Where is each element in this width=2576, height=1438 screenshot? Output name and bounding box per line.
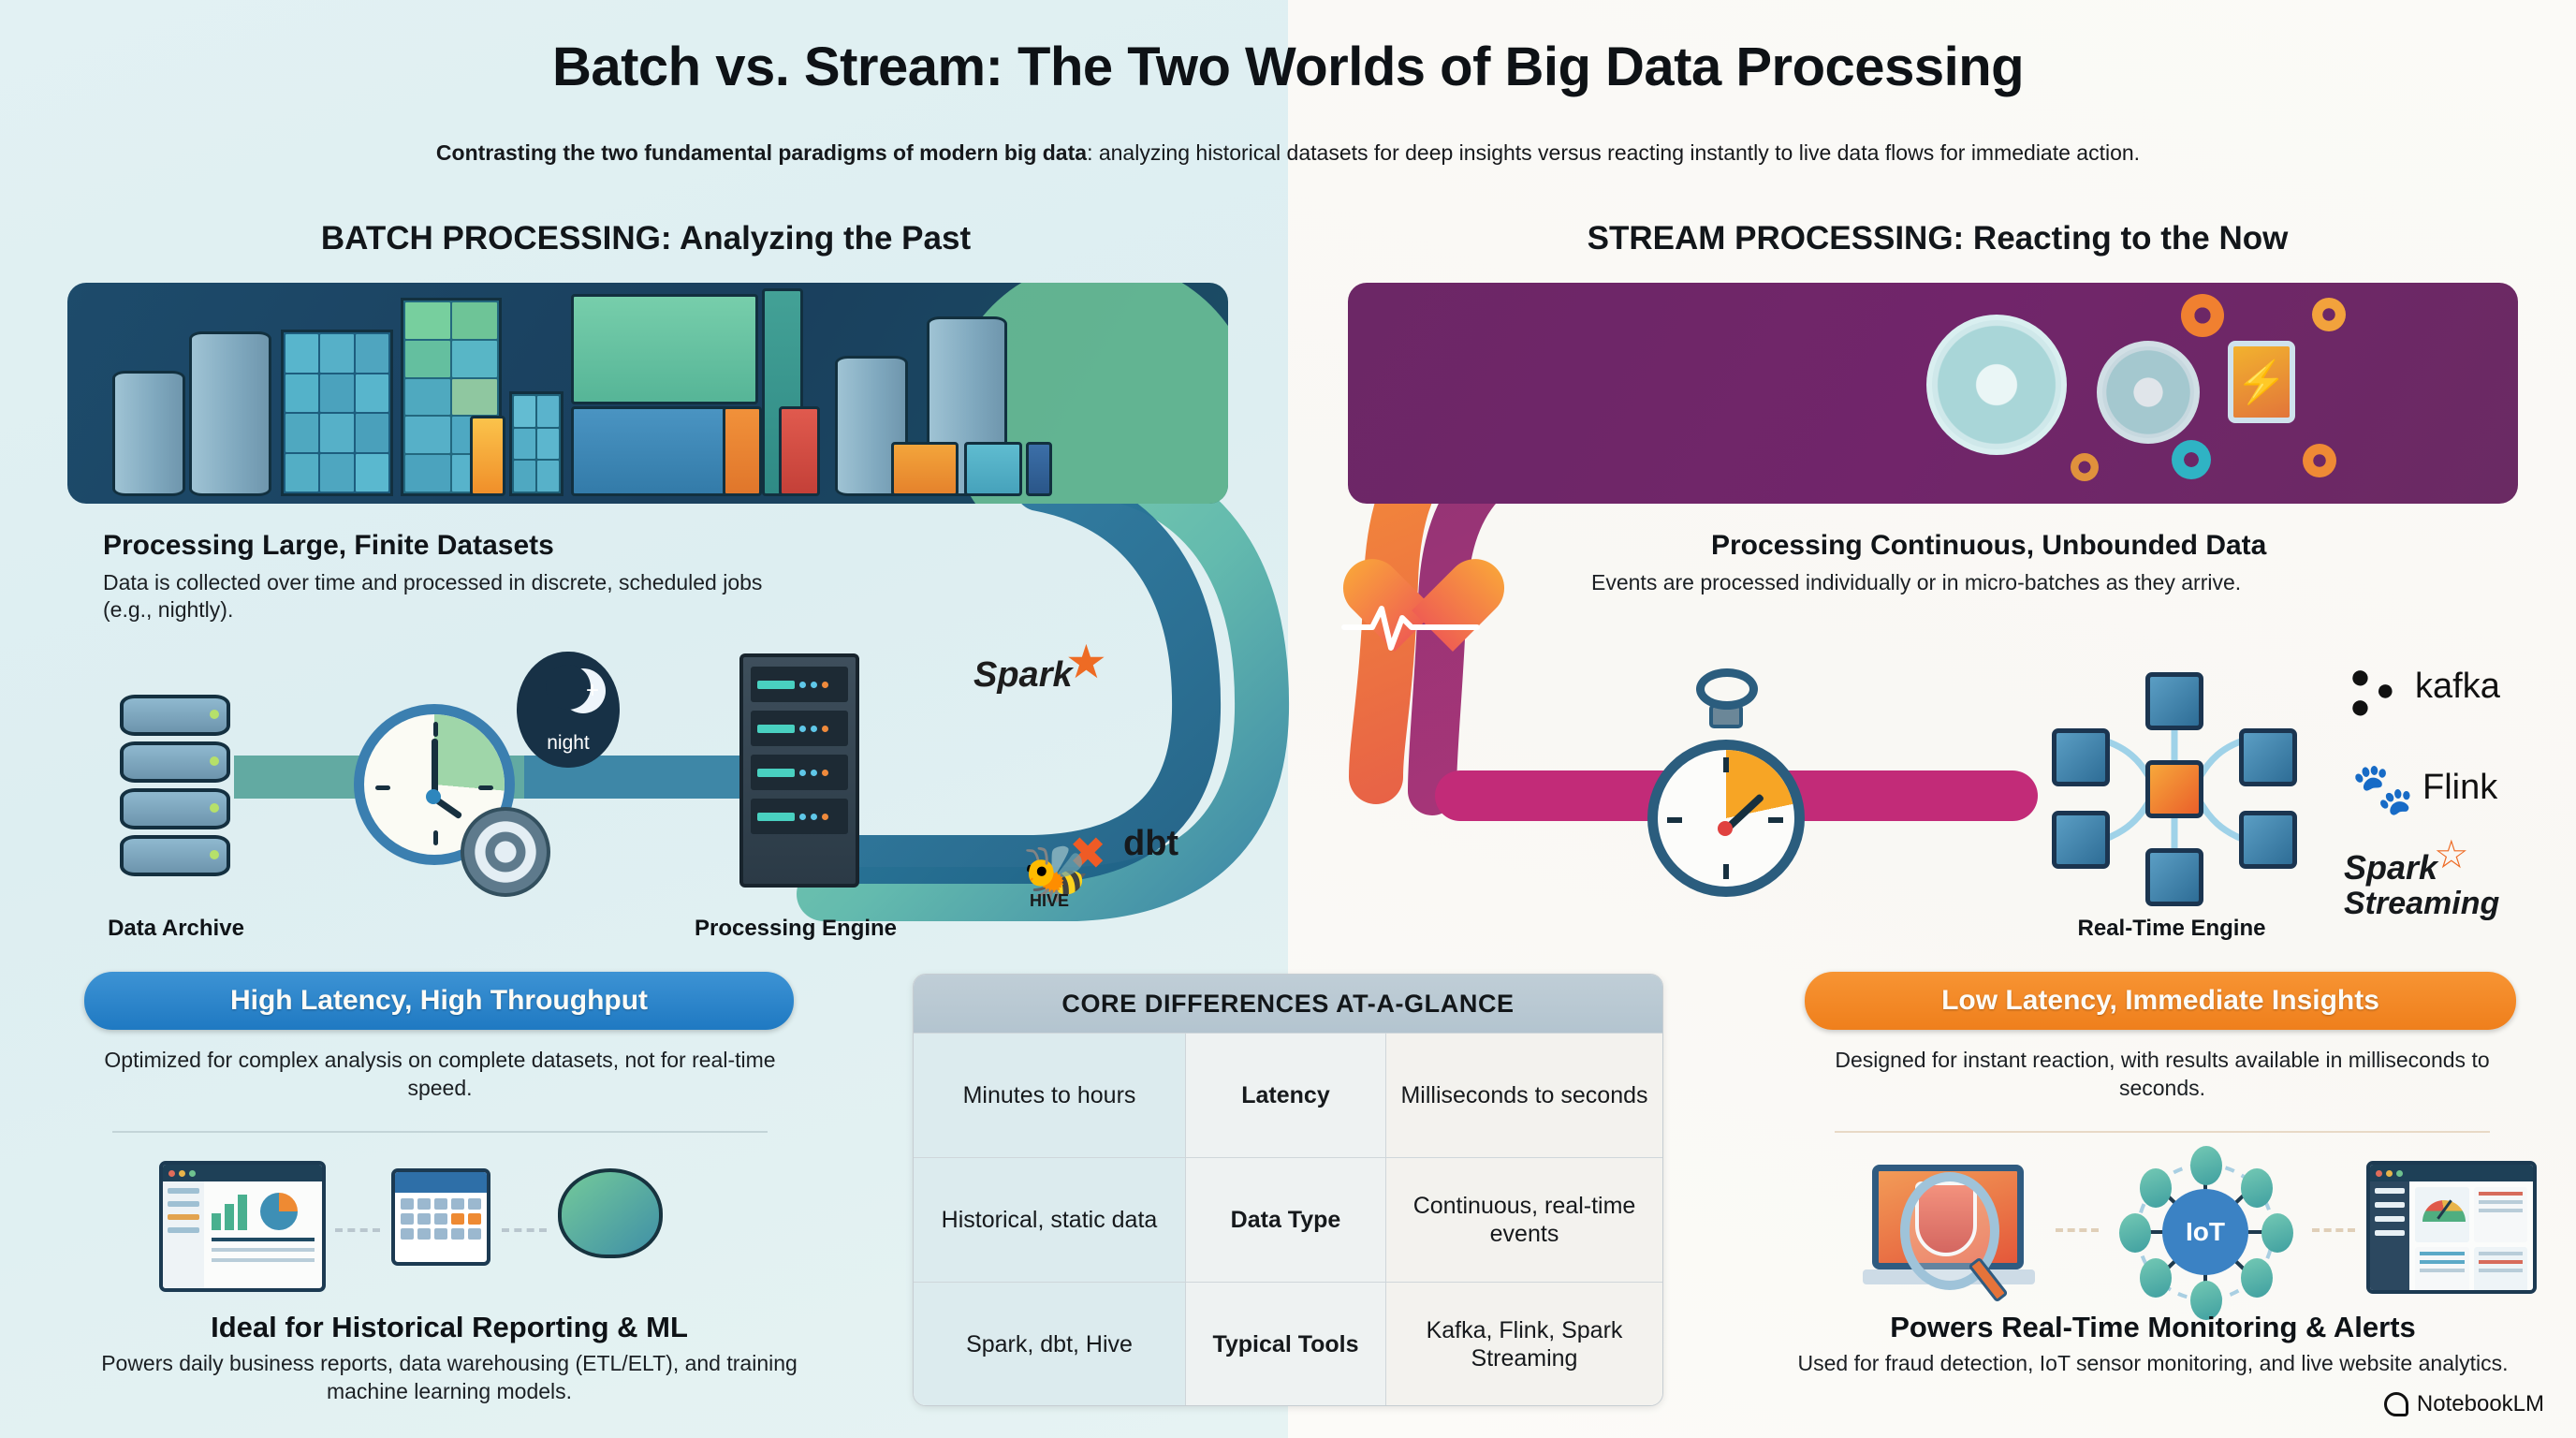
stream-column-header: STREAM PROCESSING: Reacting to the Now (1348, 220, 2527, 257)
pulse-line-icon (1340, 599, 1481, 655)
gear-icon-2 (2312, 298, 2346, 331)
comparison-table: CORE DIFFERENCES AT-A-GLANCE Minutes to … (913, 974, 1663, 1406)
flow-dash-1 (335, 1228, 380, 1232)
page-subtitle: Contrasting the two fundamental paradigm… (0, 140, 2576, 166)
stream-bottom-body: Used for fraud detection, IoT sensor mon… (1750, 1350, 2555, 1378)
stream-section-heading: Processing Continuous, Unbounded Data (1711, 530, 2266, 562)
table-cell-stream: Kafka, Flink, Spark Streaming (1386, 1283, 1662, 1406)
fraud-detection-icon (1863, 1159, 2041, 1299)
flow-dash-2 (502, 1228, 547, 1232)
table-cell-batch: Minutes to hours (914, 1034, 1185, 1157)
spiral-icon (2071, 453, 2099, 481)
flow-dash-3 (2056, 1228, 2099, 1232)
cpu-chip-icon: ⚡ (2228, 341, 2295, 423)
dbt-logo-text: dbt (1123, 824, 1178, 864)
realtime-engine-icon (2039, 672, 2310, 906)
batch-latency-sub: Optimized for complex analysis on comple… (94, 1047, 786, 1103)
stopwatch-icon (1647, 740, 1805, 897)
moon-icon (546, 665, 591, 710)
flink-logo-text: Flink (2422, 768, 2497, 808)
subtitle-rest: : analyzing historical datasets for deep… (1087, 140, 2140, 165)
batch-column-header: BATCH PROCESSING: Analyzing the Past (56, 220, 1236, 257)
table-cell-batch: Spark, dbt, Hive (914, 1283, 1185, 1406)
stream-section-body: Events are processed individually or in … (1591, 569, 2527, 596)
batch-section-body: Data is collected over time and processe… (103, 569, 814, 624)
gear-icon-1 (2181, 294, 2224, 337)
batch-section-heading: Processing Large, Finite Datasets (103, 530, 554, 562)
notebooklm-label: NotebookLM (2417, 1391, 2544, 1417)
spark-streaming-text-1: Spark (2344, 848, 2437, 888)
stream-latency-badge: Low Latency, Immediate Insights (1805, 972, 2516, 1030)
batch-divider (112, 1131, 768, 1133)
calendar-icon (391, 1168, 490, 1266)
stream-divider (1835, 1131, 2490, 1133)
data-archive-label: Data Archive (54, 916, 298, 942)
data-archive-icon (120, 695, 232, 882)
flow-dash-4 (2312, 1228, 2355, 1232)
spark-streaming-text-2: Streaming (2344, 886, 2499, 922)
batch-latency-badge: High Latency, High Throughput (84, 972, 794, 1030)
gear-icon-batch (461, 807, 550, 897)
subtitle-bold: Contrasting the two fundamental paradigm… (436, 140, 1087, 165)
table-cell-attribute: Typical Tools (1185, 1283, 1386, 1406)
gear-icon-4 (2303, 444, 2336, 477)
fan-icon-2 (2097, 341, 2200, 444)
table-row: Minutes to hours Latency Milliseconds to… (914, 1033, 1662, 1157)
realtime-engine-label: Real-Time Engine (2031, 916, 2312, 942)
kafka-logo-text: kafka (2415, 667, 2500, 707)
processing-engine-label: Processing Engine (655, 916, 936, 942)
table-cell-stream: Milliseconds to seconds (1386, 1034, 1662, 1157)
stream-latency-sub: Designed for instant reaction, with resu… (1816, 1047, 2509, 1103)
table-cell-stream: Continuous, real-time events (1386, 1158, 1662, 1282)
iot-label: IoT (2162, 1189, 2248, 1275)
page-title: Batch vs. Stream: The Two Worlds of Big … (0, 36, 2576, 98)
comparison-table-title: CORE DIFFERENCES AT-A-GLANCE (914, 975, 1662, 1033)
processing-engine-icon (739, 653, 859, 888)
night-label: night (547, 732, 590, 755)
brain-icon (558, 1168, 663, 1258)
fan-icon-1 (1926, 315, 2067, 455)
report-window-icon (159, 1161, 326, 1292)
table-cell-batch: Historical, static data (914, 1158, 1185, 1282)
notebooklm-watermark: NotebookLM (2384, 1391, 2544, 1417)
gear-icon-3 (2172, 440, 2211, 479)
notebooklm-icon (2384, 1392, 2408, 1416)
table-cell-attribute: Latency (1185, 1034, 1386, 1157)
batch-banner-illustration (67, 283, 1228, 504)
analytics-dashboard-icon (2366, 1161, 2537, 1294)
spark-logo-text: Spark (973, 655, 1073, 696)
stream-bottom-heading: Powers Real-Time Monitoring & Alerts (1732, 1311, 2574, 1344)
iot-network-icon: IoT (2112, 1150, 2299, 1313)
table-row: Historical, static data Data Type Contin… (914, 1157, 1662, 1282)
table-row: Spark, dbt, Hive Typical Tools Kafka, Fl… (914, 1282, 1662, 1406)
table-cell-attribute: Data Type (1185, 1158, 1386, 1282)
stream-banner-illustration: ⚡ (1348, 283, 2518, 504)
batch-bottom-heading: Ideal for Historical Reporting & ML (56, 1311, 842, 1344)
stopwatch-ring (1696, 668, 1758, 710)
batch-bottom-body: Powers daily business reports, data ware… (66, 1350, 833, 1406)
night-badge: + night (517, 652, 620, 768)
hive-logo-text: HIVE (1030, 891, 1069, 911)
